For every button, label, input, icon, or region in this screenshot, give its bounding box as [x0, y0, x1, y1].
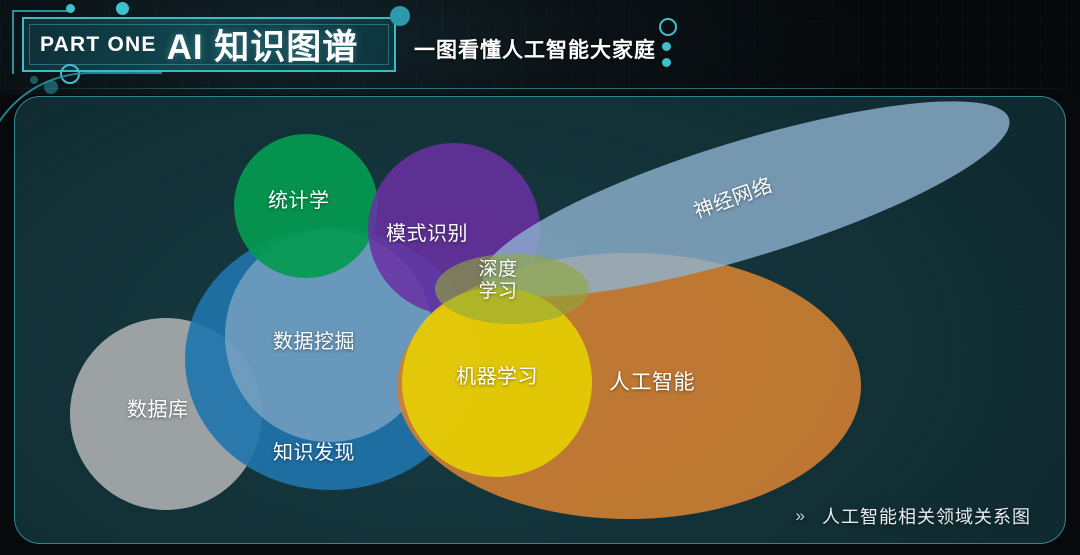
diagram-caption-text: 人工智能相关领域关系图 — [822, 503, 1031, 529]
header-dot-ring-icon — [659, 18, 677, 36]
part-label: PART ONE — [40, 33, 157, 57]
deco-dot-icon — [116, 2, 129, 15]
venn-label-knowledge-discovery: 知识发现 — [273, 436, 355, 465]
venn-label-deep-learning: 深度学习 — [471, 259, 541, 303]
venn-label-pattern-recognition: 模式识别 — [386, 217, 468, 246]
chevron-right-icon: » — [796, 506, 806, 526]
venn-label-deep-learning-text: 深度学习 — [471, 259, 525, 303]
deco-dot-icon — [30, 76, 38, 84]
page-title: AI 知识图谱 — [167, 19, 359, 70]
venn-label-data-mining: 数据挖掘 — [273, 325, 355, 354]
venn-label-statistics: 统计学 — [268, 184, 330, 213]
deco-dot-icon — [390, 6, 410, 26]
slide-header: PART ONE AI 知识图谱 一图看懂人工智能大家庭 — [0, 0, 1080, 95]
header-dot-icon — [662, 42, 671, 51]
slide-root: PART ONE AI 知识图谱 一图看懂人工智能大家庭 — [0, 0, 1080, 555]
diagram-panel: 数据库 知识发现 数据挖掘 统计学 模式识别 深度学习 机器学习 人工智能 神经… — [14, 96, 1066, 544]
venn-label-artificial-intelligence: 人工智能 — [609, 366, 695, 396]
title-box: PART ONE AI 知识图谱 — [22, 17, 396, 72]
diagram-caption: » 人工智能相关领域关系图 — [796, 503, 1031, 529]
venn-label-machine-learning: 机器学习 — [456, 360, 538, 389]
deco-dot-icon — [66, 4, 75, 13]
venn-label-database: 数据库 — [127, 393, 189, 422]
header-dot-icon — [662, 58, 671, 67]
subtitle: 一图看懂人工智能大家庭 — [414, 34, 656, 64]
header-underline — [0, 88, 1080, 89]
